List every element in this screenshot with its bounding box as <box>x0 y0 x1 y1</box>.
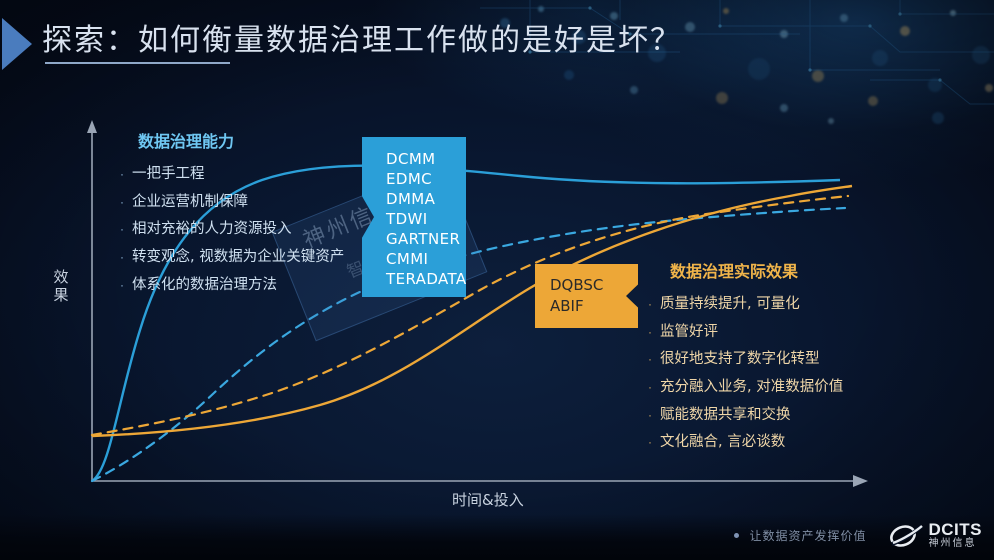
y-axis-label: 效果 <box>50 268 72 304</box>
effects-item-label: 很好地支持了数字化转型 <box>660 351 820 368</box>
dcits-swoosh-icon <box>889 523 923 549</box>
bullet-dot-icon: · <box>120 168 132 180</box>
effects-heading: 数据治理实际效果 <box>670 258 948 282</box>
effects-item-label: 质量持续提升, 可量化 <box>660 296 800 313</box>
capability-item: · 一把手工程 <box>120 166 385 183</box>
standard-item: CMMI <box>386 249 466 269</box>
effects-item: · 质量持续提升, 可量化 <box>648 296 948 313</box>
capability-item: · 相对充裕的人力资源投入 <box>120 221 385 238</box>
capability-heading: 数据治理能力 <box>138 128 385 152</box>
bullet-dot-icon: · <box>648 409 660 421</box>
bullet-dot-icon: · <box>120 251 132 263</box>
footer: 让数据资产发挥价值 DCITS 神州信息 <box>734 521 982 550</box>
capability-item-label: 转变观念, 视数据为企业关键资产 <box>132 249 344 266</box>
capability-item-label: 企业运营机制保障 <box>132 194 248 211</box>
logo-text-en: DCITS <box>929 521 983 538</box>
effects-item-label: 监管好评 <box>660 324 718 341</box>
bullet-dot-icon: · <box>648 298 660 310</box>
bullet-dot-icon: · <box>648 381 660 393</box>
capability-panel: 数据治理能力 · 一把手工程 · 企业运营机制保障 · 相对充裕的人力资源投入 … <box>120 128 385 304</box>
effects-item: · 很好地支持了数字化转型 <box>648 351 948 368</box>
standard-item: EDMC <box>386 169 466 189</box>
capability-item-label: 相对充裕的人力资源投入 <box>132 221 292 238</box>
standard-item: DMMA <box>386 189 466 209</box>
effects-item: · 监管好评 <box>648 324 948 341</box>
standard-item: GARTNER <box>386 229 466 249</box>
logo-text-cn: 神州信息 <box>929 538 983 550</box>
standard-item: DCMM <box>386 149 466 169</box>
capability-item: · 企业运营机制保障 <box>120 194 385 211</box>
bullet-dot-icon: · <box>648 353 660 365</box>
capability-item-label: 体系化的数据治理方法 <box>132 277 277 294</box>
brand-logo: DCITS 神州信息 <box>889 521 983 550</box>
footer-tagline: 让数据资产发挥价值 <box>749 527 866 544</box>
page-title: 探索：如何衡量数据治理工作做的是好是坏？ <box>42 15 682 59</box>
bullet-dot-icon: · <box>120 279 132 291</box>
capability-item: · 转变观念, 视数据为企业关键资产 <box>120 249 385 266</box>
metric-item: ABIF <box>550 296 638 317</box>
metrics-tag: DQBSC ABIF <box>535 264 638 328</box>
metric-item: DQBSC <box>550 275 638 296</box>
title-underline <box>45 62 230 64</box>
x-axis-label: 时间&投入 <box>452 489 524 510</box>
standard-item: TERADATA <box>386 269 466 289</box>
slide-root: 探索：如何衡量数据治理工作做的是好是坏？ 效果 时间&投入 神州信息 智方志 数… <box>0 0 994 560</box>
bullet-dot-icon: · <box>648 436 660 448</box>
standards-tag: DCMM EDMC DMMA TDWI GARTNER CMMI TERADAT… <box>362 137 466 297</box>
standard-item: TDWI <box>386 209 466 229</box>
bullet-dot-icon: · <box>648 326 660 338</box>
effects-item: · 充分融入业务, 对准数据价值 <box>648 379 948 396</box>
bullet-dot-icon: · <box>120 196 132 208</box>
footer-dot-icon <box>734 533 739 538</box>
effects-panel: 数据治理实际效果 · 质量持续提升, 可量化 · 监管好评 · 很好地支持了数字… <box>648 258 948 462</box>
bullet-dot-icon: · <box>120 223 132 235</box>
effects-item: · 赋能数据共享和交换 <box>648 407 948 424</box>
effects-item-label: 文化融合, 言必谈数 <box>660 434 785 451</box>
effects-item-label: 赋能数据共享和交换 <box>660 407 791 424</box>
effects-item-label: 充分融入业务, 对准数据价值 <box>660 379 843 396</box>
capability-item: · 体系化的数据治理方法 <box>120 277 385 294</box>
capability-item-label: 一把手工程 <box>132 166 205 183</box>
title-arrow-icon <box>2 18 32 70</box>
effects-item: · 文化融合, 言必谈数 <box>648 434 948 451</box>
